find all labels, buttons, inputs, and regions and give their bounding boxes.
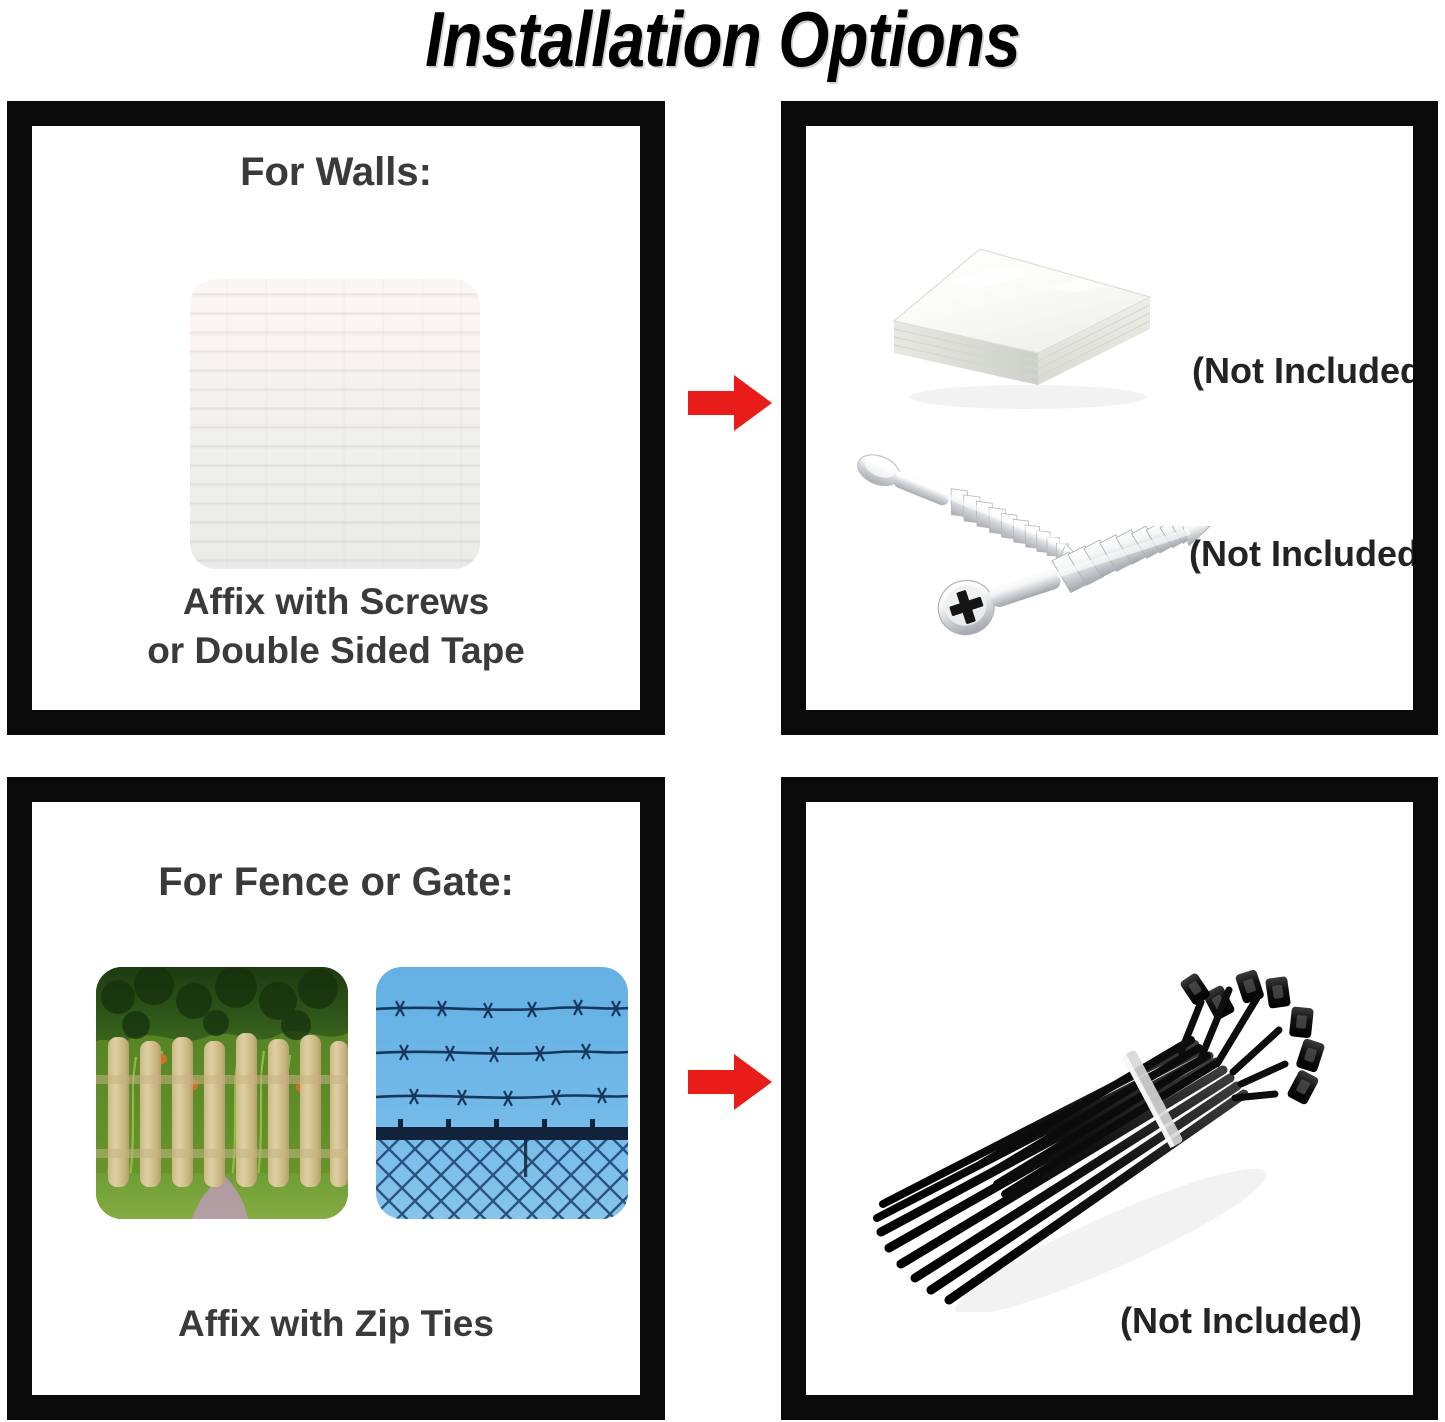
white-brick-wall-photo	[190, 279, 480, 569]
chain-link-barbed-wire-fence-photo	[376, 967, 628, 1219]
panel-for-walls: For Walls: Affix with Screws or Double S…	[7, 101, 665, 735]
for-fence-caption: Affix with Zip Ties	[32, 1300, 640, 1349]
panel-wall-hardware: (Not Included)	[781, 101, 1438, 735]
tape-not-included-label: (Not Included)	[1192, 350, 1413, 392]
right-arrow-icon	[688, 1052, 772, 1112]
for-walls-caption: Affix with Screws or Double Sided Tape	[32, 578, 640, 676]
panel-for-fence-or-gate: For Fence or Gate:	[7, 777, 665, 1420]
panel-zip-ties: (Not Included)	[781, 777, 1438, 1420]
right-arrow-icon	[688, 373, 772, 433]
panel-for-fence-or-gate-content: For Fence or Gate:	[32, 802, 640, 1395]
zip-ties-not-included-label: (Not Included)	[1120, 1300, 1362, 1342]
wooden-picket-fence-photo	[96, 967, 348, 1219]
screws-not-included-label: (Not Included)	[1189, 533, 1413, 575]
for-fence-caption-line-1: Affix with Zip Ties	[32, 1300, 640, 1349]
for-walls-caption-line-1: Affix with Screws	[32, 578, 640, 627]
phillips-wood-screw-lower-image	[926, 526, 1226, 651]
for-walls-caption-line-2: or Double Sided Tape	[32, 627, 640, 676]
panel-wall-hardware-content: (Not Included)	[806, 126, 1413, 710]
black-zip-ties-bundle-image	[861, 912, 1341, 1312]
installation-options-infographic: Installation Options For Walls: Affix wi…	[0, 0, 1445, 1422]
double-sided-tape-stack-image	[888, 237, 1158, 412]
panel-zip-ties-content: (Not Included)	[806, 802, 1413, 1395]
page-title: Installation Options	[116, 0, 1330, 83]
for-walls-heading: For Walls:	[32, 150, 640, 195]
panel-for-walls-content: For Walls: Affix with Screws or Double S…	[32, 126, 640, 710]
for-fence-or-gate-heading: For Fence or Gate:	[32, 860, 640, 905]
